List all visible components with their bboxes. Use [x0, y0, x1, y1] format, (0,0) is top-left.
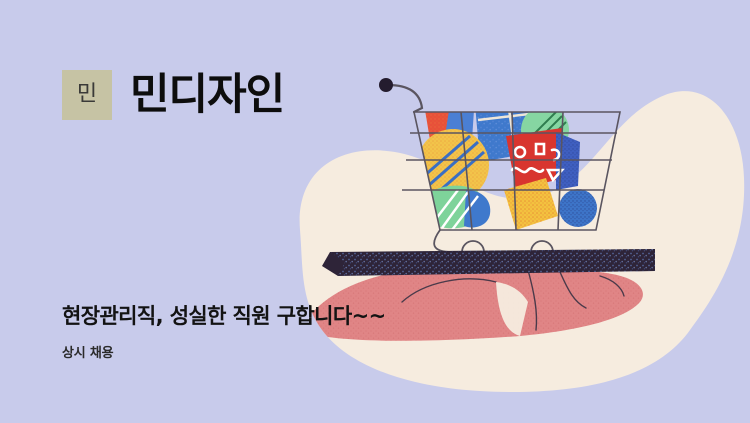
cart-handle-dot	[379, 78, 393, 92]
cart-handle	[379, 78, 422, 112]
brand-badge: 민	[62, 70, 112, 120]
job-posting-banner: 민 민디자인 현장관리직, 성실한 직원 구합니다~~ 상시 채용	[0, 0, 750, 423]
headline-text: 현장관리직, 성실한 직원 구합니다~~	[62, 300, 386, 330]
brand-lockup: 민 민디자인	[62, 70, 284, 120]
item-blue-circle	[559, 189, 597, 227]
subline-text: 상시 채용	[62, 342, 113, 361]
page-title: 민디자인	[130, 74, 284, 117]
